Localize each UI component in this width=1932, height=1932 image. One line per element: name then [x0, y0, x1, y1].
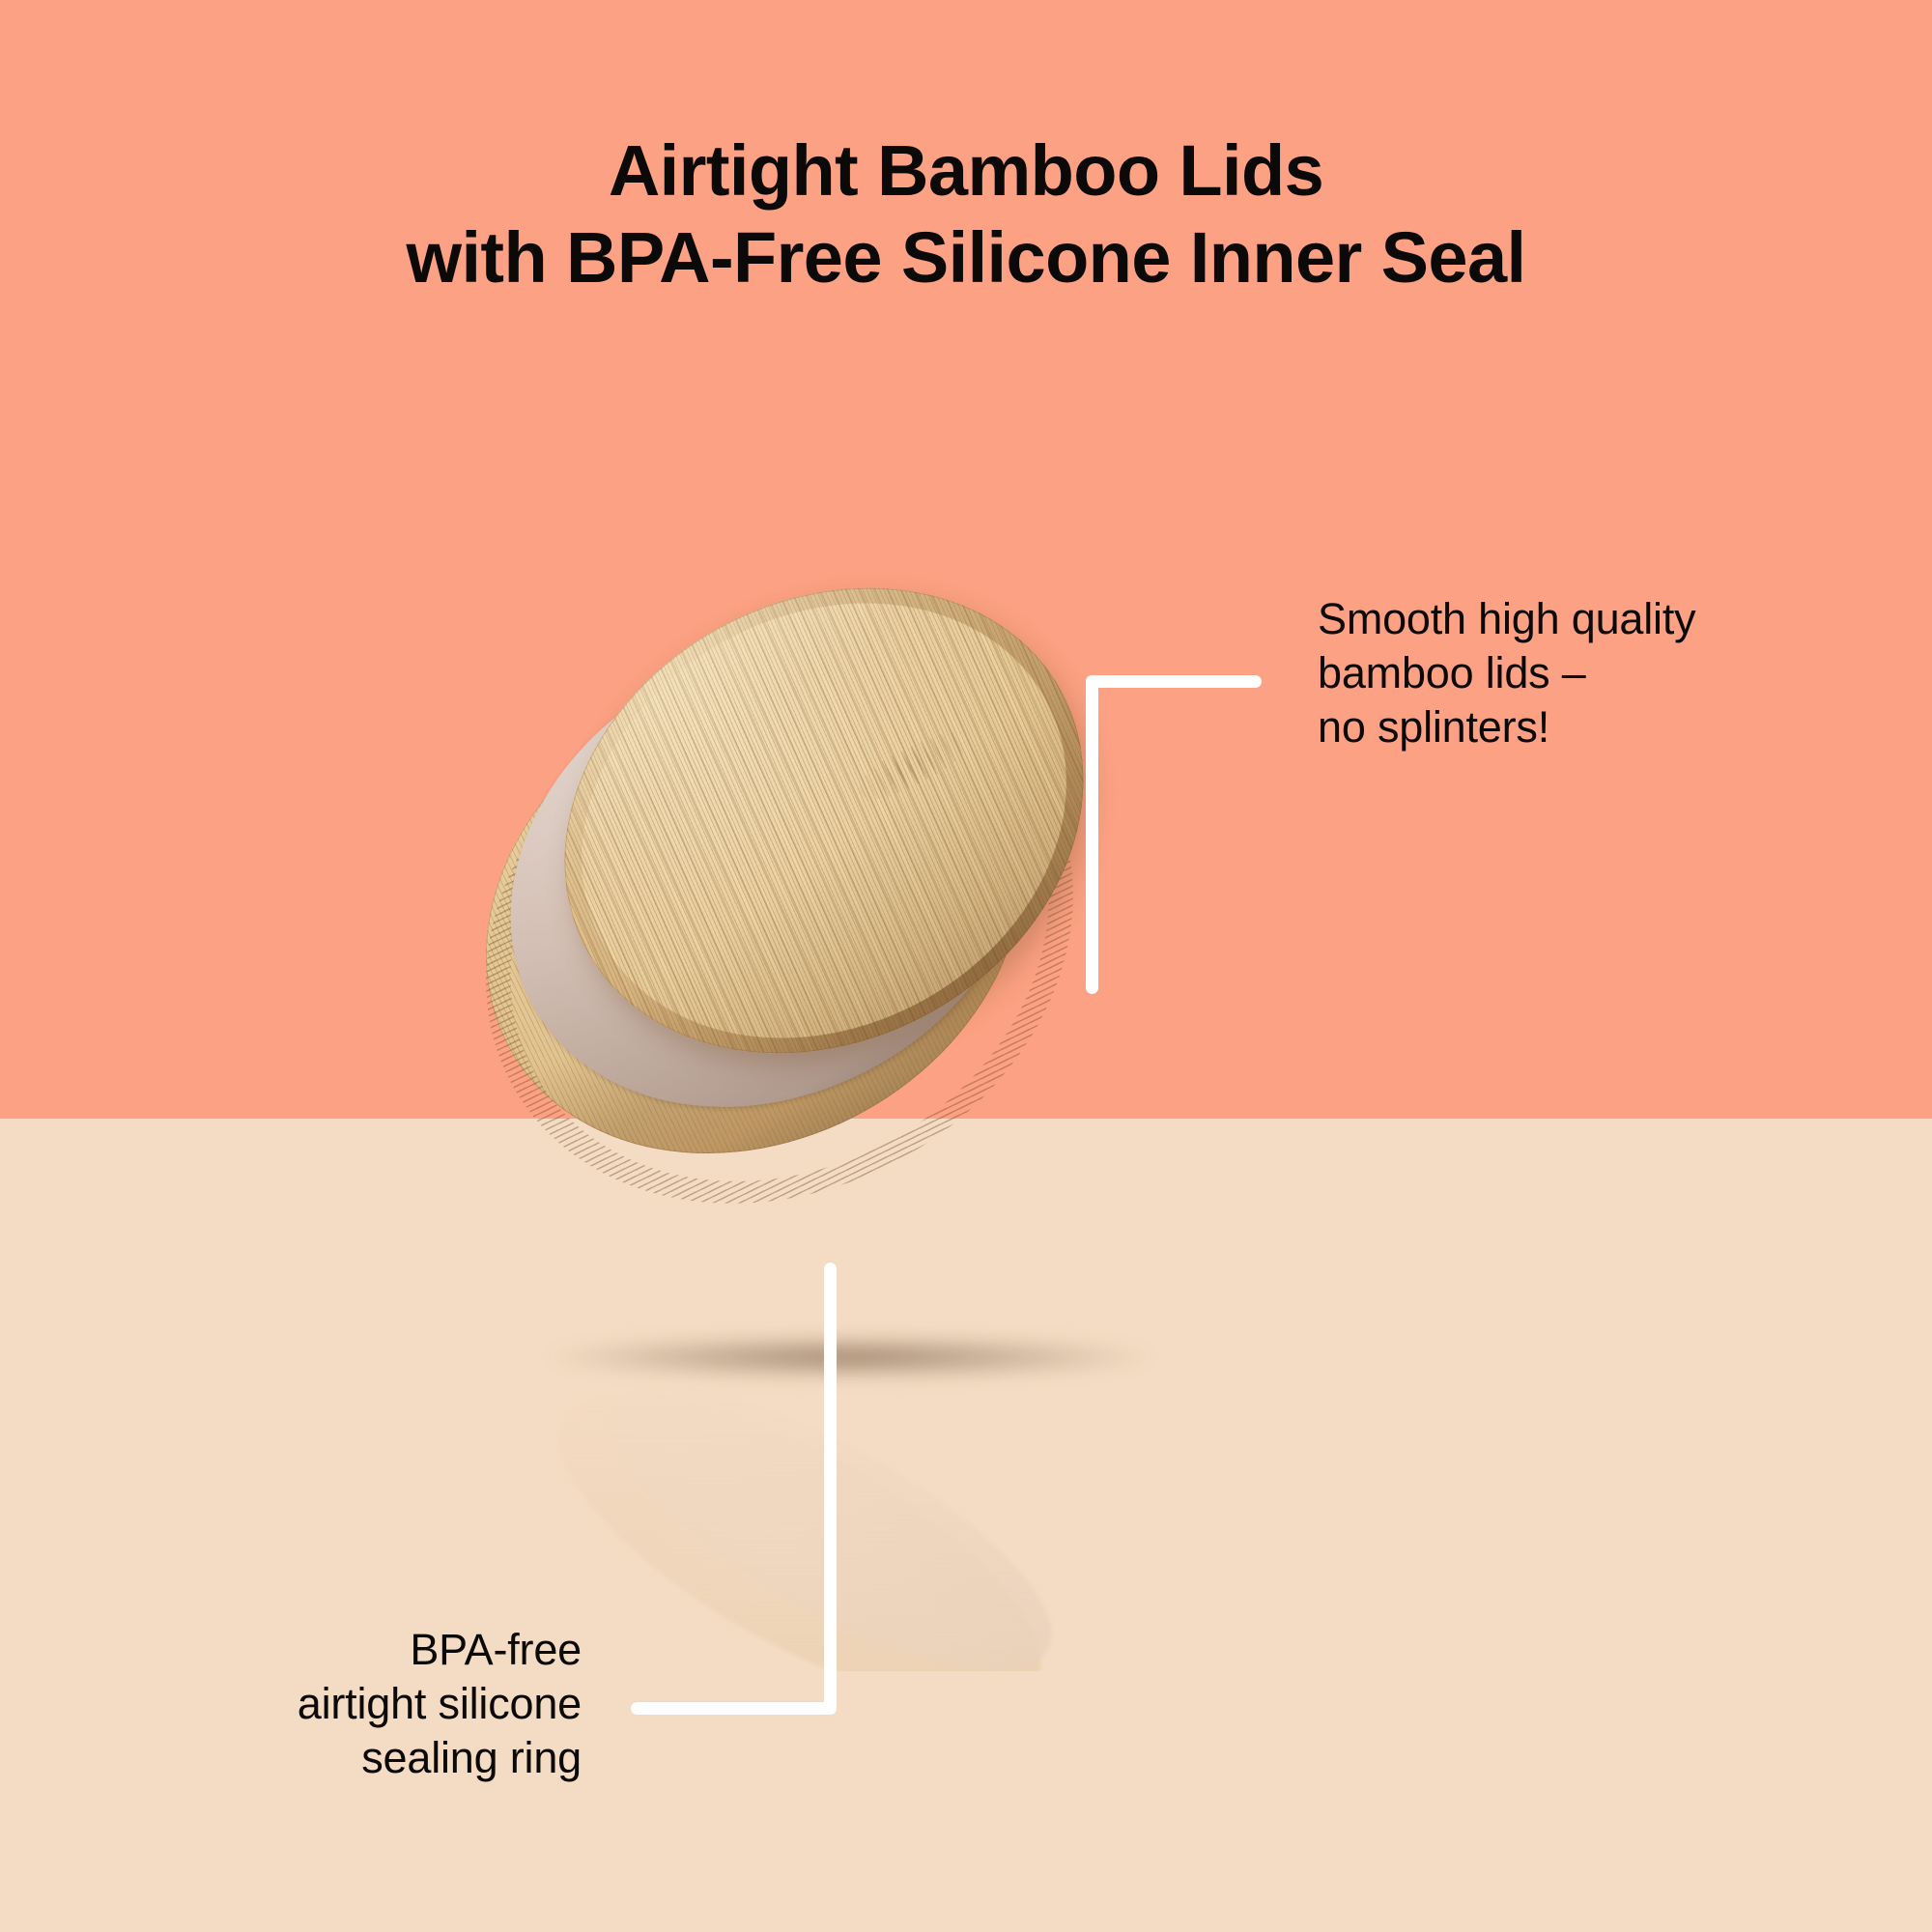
leader-line-top-horizontal — [1086, 675, 1262, 688]
product-image-bamboo-lid — [440, 541, 1058, 1198]
callout-smooth-bamboo-line-3: no splinters! — [1318, 700, 1695, 754]
callout-silicone-ring: BPA-free airtight silicone sealing ring — [298, 1623, 582, 1784]
page-title-line-2: with BPA-Free Silicone Inner Seal — [0, 214, 1932, 301]
leader-line-top-vertical — [1086, 675, 1098, 994]
page-title-line-1: Airtight Bamboo Lids — [0, 128, 1932, 214]
callout-silicone-ring-line-1: BPA-free — [298, 1623, 582, 1677]
infographic-canvas: Airtight Bamboo Lids with BPA-Free Silic… — [0, 0, 1932, 1932]
callout-silicone-ring-line-3: sealing ring — [298, 1731, 582, 1785]
leader-line-bottom-horizontal — [631, 1702, 837, 1715]
leader-line-bottom-vertical — [824, 1263, 837, 1715]
callout-smooth-bamboo-line-2: bamboo lids – — [1318, 646, 1695, 700]
callout-smooth-bamboo-line-1: Smooth high quality — [1318, 592, 1695, 646]
page-title: Airtight Bamboo Lids with BPA-Free Silic… — [0, 128, 1932, 302]
callout-silicone-ring-line-2: airtight silicone — [298, 1677, 582, 1731]
product-reflection — [520, 1352, 1186, 1671]
callout-smooth-bamboo: Smooth high quality bamboo lids – no spl… — [1318, 592, 1695, 753]
